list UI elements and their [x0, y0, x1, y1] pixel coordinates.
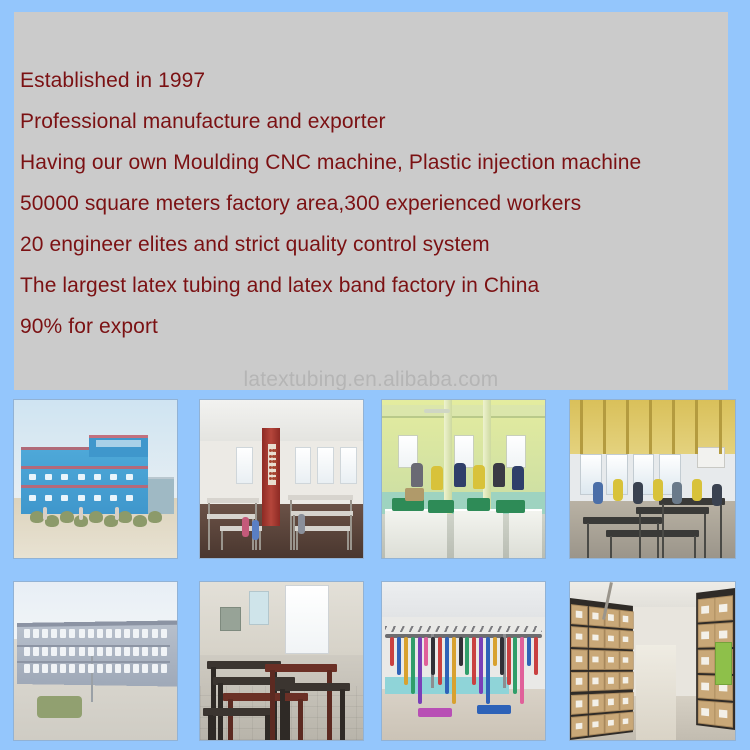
building-window [152, 647, 158, 656]
warehouse-carton [571, 604, 588, 626]
carton-label [702, 683, 710, 691]
table-leg [639, 514, 641, 558]
hanging-band [479, 637, 483, 694]
building-window [69, 629, 75, 638]
bench-leg [347, 531, 349, 550]
warehouse-carton [715, 596, 734, 622]
watermark-text: latextubing.en.alibaba.com [14, 368, 728, 390]
storage-bin [405, 488, 425, 501]
photo-content [570, 582, 735, 740]
table-leg [720, 504, 722, 558]
line-worker [454, 463, 466, 487]
building-window [161, 629, 167, 638]
building-window [51, 647, 57, 656]
carton-label [592, 678, 598, 684]
building-window [78, 495, 85, 501]
hanging-band [404, 637, 408, 684]
warehouse-carton [619, 651, 633, 670]
warehouse-carton [698, 624, 715, 648]
hanging-band [459, 637, 463, 665]
building-window [115, 629, 121, 638]
bench-leg [340, 689, 345, 740]
building-window [88, 629, 94, 638]
building-window [69, 664, 75, 673]
photo-content [200, 582, 363, 740]
warehouse-carton [588, 672, 604, 692]
workshop-worker [692, 479, 702, 501]
warehouse-carton [604, 713, 619, 734]
line-worker [431, 466, 443, 490]
yard-bush [30, 511, 44, 523]
work-bench [288, 495, 353, 500]
building-window [33, 664, 39, 673]
hanging-band [500, 637, 504, 675]
building-window [60, 664, 66, 673]
building-window [60, 647, 66, 656]
carton-label [702, 657, 710, 664]
building-window [61, 495, 68, 501]
ceiling-rafter [695, 400, 698, 454]
worker-figure [252, 520, 259, 540]
photo-production-line[interactable] [382, 400, 545, 558]
carton-label [623, 718, 629, 724]
hanging-band [507, 637, 511, 684]
table-leg [662, 504, 664, 558]
warehouse-carton [571, 649, 588, 669]
machine-bench [275, 683, 350, 691]
info-line-established: Established in 1997 [20, 60, 728, 101]
carton-label [608, 635, 614, 641]
workshop-worker [712, 484, 722, 506]
building-window [133, 664, 139, 673]
building-window [42, 664, 48, 673]
building-window [124, 647, 130, 656]
photo-band-showroom[interactable] [382, 582, 545, 740]
warehouse-carton [698, 701, 715, 726]
hanging-band [472, 637, 476, 684]
workshop-worker [593, 482, 603, 504]
work-table [606, 530, 698, 537]
warehouse-carton [571, 626, 588, 647]
carton-label [608, 719, 614, 725]
work-table [636, 507, 709, 514]
building-window [69, 647, 75, 656]
worker-figure [242, 517, 249, 537]
yard-person [43, 507, 47, 520]
carton-label [702, 606, 710, 614]
warehouse-carton [604, 650, 619, 669]
carton-label [575, 656, 582, 662]
building-window [94, 474, 101, 480]
carton-label [623, 657, 629, 663]
building-window [142, 629, 148, 638]
warehouse-carton [588, 650, 604, 670]
line-worker [411, 463, 423, 487]
carton-label [623, 616, 629, 622]
bench-leg [290, 500, 292, 551]
info-line-manufacture: Professional manufacture and exporter [20, 101, 728, 142]
info-line-largest-factory: The largest latex tubing and latex band … [20, 265, 728, 306]
warehouse-carton [571, 716, 588, 738]
ceiling-fan [424, 409, 450, 413]
building-window [45, 495, 52, 501]
building-window [79, 647, 85, 656]
building-stripe [21, 466, 148, 469]
hanging-band [534, 637, 538, 675]
building-window [110, 495, 117, 501]
building-window [79, 629, 85, 638]
photo-content [570, 400, 735, 558]
building-window [51, 629, 57, 638]
building-window [24, 647, 30, 656]
info-line-export: 90% for export [20, 306, 728, 347]
info-line-machines: Having our own Moulding CNC machine, Pla… [20, 142, 728, 183]
building-window [88, 664, 94, 673]
photo-content [382, 582, 545, 740]
bench-leg [298, 699, 303, 740]
building-window [126, 495, 133, 501]
table-leg [694, 536, 696, 558]
building-window [161, 647, 167, 656]
warehouse-carton [604, 692, 619, 712]
building-window [152, 629, 158, 638]
table-leg [587, 523, 589, 558]
bench-leg [270, 670, 275, 740]
photo-content [382, 400, 545, 558]
yard-bush [148, 511, 162, 523]
carton-label [719, 710, 727, 718]
yard-person [115, 507, 119, 520]
photo-long-workshop[interactable] [570, 400, 735, 558]
bench-leg [296, 531, 298, 550]
warehouse-carton [604, 629, 619, 649]
warehouse-carton [588, 628, 604, 648]
building-window [24, 629, 30, 638]
table-leg [704, 514, 706, 558]
carton-label [608, 698, 614, 704]
carton-label [719, 631, 727, 639]
warehouse-carton [619, 630, 633, 649]
building-window [106, 629, 112, 638]
carton-label [702, 632, 710, 640]
carton-label [719, 604, 727, 612]
warehouse-carton [619, 712, 633, 732]
building-window [124, 629, 130, 638]
building-window [115, 647, 121, 656]
hanging-band [520, 637, 524, 703]
building-window [33, 629, 39, 638]
carton-label [623, 677, 629, 683]
building-window [106, 647, 112, 656]
carton-label [592, 634, 598, 640]
warehouse-carton [619, 692, 633, 711]
ceiling-rafter [626, 400, 629, 454]
factory-photo-gallery [0, 392, 750, 750]
bench-leg [327, 670, 332, 740]
warehouse-carton [571, 672, 588, 693]
hanging-band [493, 637, 497, 665]
hanging-band [452, 637, 456, 703]
warehouse-carton [698, 675, 715, 699]
building-window [152, 664, 158, 673]
building-window [60, 629, 66, 638]
building-window [106, 664, 112, 673]
building-window [97, 629, 103, 638]
work-bench [207, 498, 259, 503]
hanging-band [445, 637, 449, 694]
yard-bush [89, 511, 103, 523]
banner-page: Established in 1997 Professional manufac… [0, 0, 750, 750]
hanging-band [438, 637, 442, 684]
bench-leg [293, 515, 295, 550]
photo-workshop-hall[interactable] [200, 400, 363, 558]
workshop-worker [653, 479, 663, 501]
bench-leg [221, 531, 223, 550]
bench-leg [350, 515, 352, 550]
building-window [24, 664, 30, 673]
hanging-band [486, 637, 490, 703]
warehouse-carton [571, 694, 588, 715]
ceiling-rafter [603, 400, 606, 454]
table-leg [610, 536, 612, 558]
workshop-worker [672, 482, 682, 504]
warehouse-carton [588, 714, 604, 735]
company-info-panel: Established in 1997 Professional manufac… [14, 12, 728, 390]
building-window [29, 495, 36, 501]
building-window [78, 474, 85, 480]
warehouse-carton [619, 609, 633, 629]
line-worker [473, 465, 485, 489]
workshop-worker [633, 482, 643, 504]
warehouse-carton [715, 702, 734, 728]
photo-warehouse[interactable] [570, 582, 735, 740]
carton-label [623, 698, 629, 704]
yard-bush [118, 511, 132, 523]
hanging-band [465, 637, 469, 675]
building-window [97, 647, 103, 656]
building-window [161, 664, 167, 673]
building-window [88, 647, 94, 656]
bench-leg [228, 699, 233, 740]
photo-machine-shop[interactable] [200, 582, 363, 740]
photo-content [14, 582, 177, 740]
line-worker [493, 463, 505, 487]
hanging-band [397, 637, 401, 675]
ceiling-rafter [719, 400, 722, 454]
building-floor-line [17, 661, 170, 663]
building-window [79, 664, 85, 673]
building-window [29, 474, 36, 480]
work-table [583, 517, 662, 524]
hanging-band [411, 637, 415, 694]
carton-label [592, 721, 598, 728]
building-window [115, 664, 121, 673]
bench-leg [208, 519, 210, 551]
building-window [133, 647, 139, 656]
carton-label [575, 633, 582, 640]
table-leg [657, 523, 659, 558]
warehouse-carton [698, 598, 715, 623]
building-window [94, 495, 101, 501]
carton-label [575, 611, 582, 618]
ceiling-rafter [580, 400, 583, 454]
ceiling-rafter [672, 400, 675, 454]
building-window [110, 474, 117, 480]
yard-bush [133, 515, 147, 527]
carton-label [592, 699, 598, 705]
storage-bin [428, 500, 454, 513]
building-window [51, 664, 57, 673]
carton-label [575, 700, 582, 707]
carton-label [575, 678, 582, 684]
gallery-row-1 [0, 392, 750, 560]
carton-label [608, 678, 614, 684]
info-line-factory-area: 50000 square meters factory area,300 exp… [20, 183, 728, 224]
building-window [133, 629, 139, 638]
gallery-row-2 [0, 574, 750, 742]
carton-label [592, 612, 598, 619]
building-window [42, 647, 48, 656]
bench-leg [285, 683, 290, 740]
workshop-worker [613, 479, 623, 501]
carton-label [608, 614, 614, 620]
warehouse-carton [619, 671, 633, 690]
building-window [142, 647, 148, 656]
worker-figure [298, 514, 305, 534]
carton-label [623, 636, 629, 642]
hanging-band [418, 637, 422, 703]
hanging-band [513, 637, 517, 694]
building-window [61, 474, 68, 480]
ceiling-rafter [649, 400, 652, 454]
building-window [124, 664, 130, 673]
hanging-band [431, 637, 435, 675]
bench-leg [280, 689, 285, 740]
hanging-band [390, 637, 394, 665]
bench-leg [208, 715, 213, 740]
photo-factory-building-exterior[interactable] [14, 400, 177, 558]
building-window [33, 647, 39, 656]
yard-person [79, 507, 83, 520]
warehouse-carton [604, 671, 619, 690]
building-window [97, 664, 103, 673]
building-window [45, 474, 52, 480]
line-worker [512, 466, 524, 490]
photo-content [200, 400, 363, 558]
carton-label [702, 708, 710, 716]
info-line-engineers: 20 engineer elites and strict quality co… [20, 224, 728, 265]
photo-factory-yard[interactable] [14, 582, 177, 740]
hanging-band [424, 637, 428, 665]
warehouse-carton [698, 650, 715, 674]
machine-bench [223, 693, 308, 701]
building-window [142, 664, 148, 673]
storage-bin [467, 498, 490, 511]
photo-content [14, 400, 177, 558]
yard-bush [60, 511, 74, 523]
carton-label [592, 656, 598, 662]
hanging-band [527, 637, 531, 665]
warehouse-carton [588, 693, 604, 714]
company-info-list: Established in 1997 Professional manufac… [20, 60, 728, 347]
building-window [42, 629, 48, 638]
building-stripe [21, 485, 148, 488]
carton-label [608, 656, 614, 662]
yard-bush [45, 515, 59, 527]
building-window [126, 474, 133, 480]
carton-label [575, 723, 582, 730]
storage-bin [496, 500, 525, 513]
